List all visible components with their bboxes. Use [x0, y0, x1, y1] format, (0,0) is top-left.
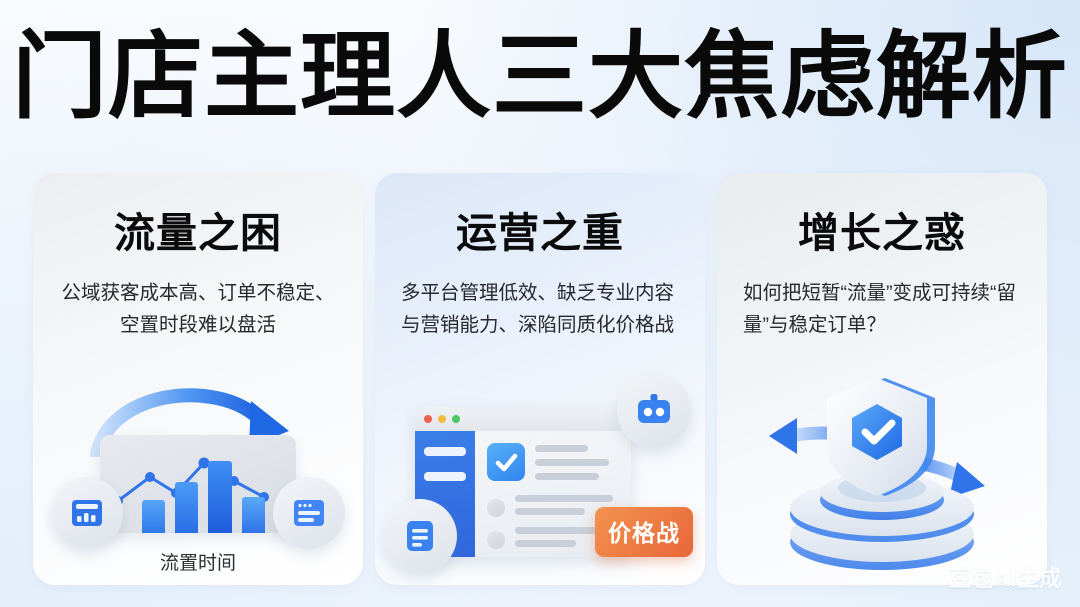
- bar: [175, 482, 198, 533]
- robot-icon: [633, 390, 675, 432]
- window-dot-red: [424, 415, 432, 423]
- watermark: 豆包AI生成: [949, 561, 1062, 593]
- card-body-text: 公域获客成本高、订单不稳定、空置时段难以盘活: [55, 277, 341, 341]
- checkmark-icon: [487, 443, 525, 481]
- card-heading: 运营之重: [375, 199, 705, 259]
- window-dot-green: [452, 415, 460, 423]
- shield-pedestal-graphic: [717, 374, 1047, 579]
- sidebar-item: [424, 472, 466, 481]
- document-badge: [383, 499, 457, 573]
- card-body-text: 多平台管理低效、缺乏专业内容与营销能力、深陷同质化价格战: [401, 277, 679, 341]
- window-dot-yellow: [438, 415, 446, 423]
- card-body-text: 如何把短暂“流量”变成可持续“留量”与稳定订单？: [743, 277, 1021, 341]
- card-traffic-dilemma[interactable]: 流量之困 公域获客成本高、订单不稳定、空置时段难以盘活: [33, 173, 363, 585]
- card-heading: 流量之困: [33, 199, 363, 259]
- cards-row: 流量之困 公域获客成本高、订单不稳定、空置时段难以盘活: [33, 173, 1047, 585]
- radio-icon: [487, 499, 505, 517]
- bar: [208, 461, 232, 533]
- window-list-badge: [273, 477, 345, 549]
- chart-card-badge: [51, 477, 123, 549]
- bar: [142, 500, 165, 533]
- card-operation-burden[interactable]: 运营之重 多平台管理低效、缺乏专业内容与营销能力、深陷同质化价格战: [375, 173, 705, 585]
- bar-group: [100, 435, 296, 533]
- illustration-caption: 流置时间: [33, 548, 363, 575]
- price-war-tag: 价格战: [595, 507, 693, 557]
- radio-icon: [487, 531, 505, 549]
- checkbox-checked: [487, 443, 525, 481]
- card-growth-confusion[interactable]: 增长之惑 如何把短暂“流量”变成可持续“留量”与稳定订单？: [717, 173, 1047, 585]
- robot-badge: [617, 374, 691, 448]
- chart-panel: [100, 435, 296, 533]
- window-list-icon: [290, 494, 328, 532]
- page-header: 门店主理人三大焦虑解析: [0, 28, 1080, 128]
- window-titlebar: [415, 407, 631, 431]
- content-lines: [535, 445, 621, 487]
- card-heading: 增长之惑: [717, 199, 1047, 259]
- bar: [242, 497, 265, 533]
- bar-chart-rebound-illustration: 流置时间: [33, 370, 363, 585]
- multi-platform-window-illustration: 价格战: [375, 370, 705, 585]
- sidebar-item: [424, 447, 466, 456]
- page-title: 门店主理人三大焦虑解析: [0, 28, 1080, 128]
- chart-card-icon: [68, 494, 106, 532]
- document-icon: [400, 516, 440, 556]
- shield-pedestal-illustration: [717, 370, 1047, 585]
